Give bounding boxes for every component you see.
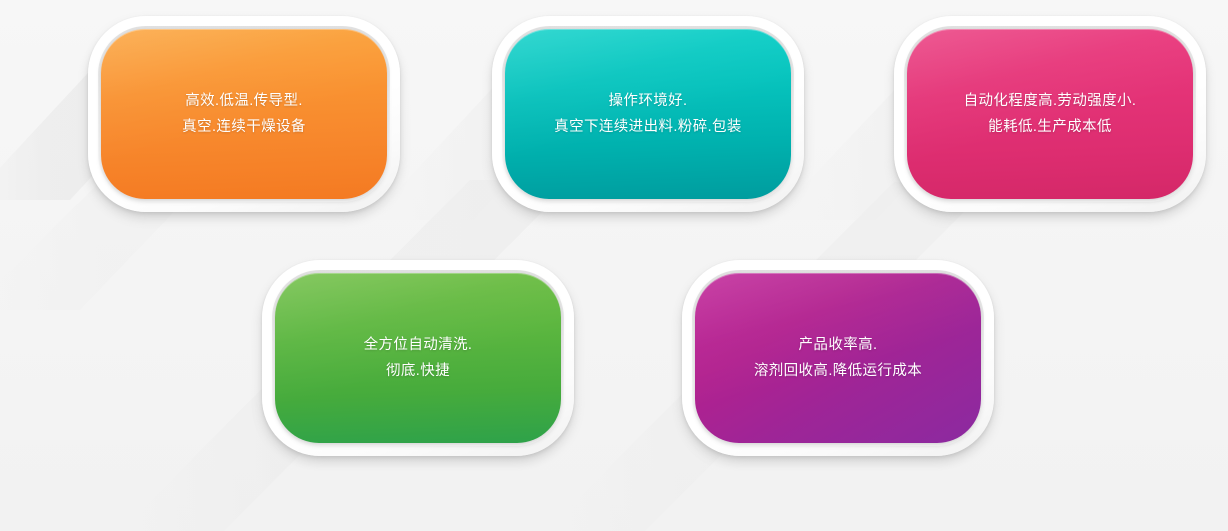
card-text-line-2: 真空.连续干燥设备 xyxy=(182,114,306,140)
card-automation[interactable]: 自动化程度高.劳动强度小. 能耗低.生产成本低 xyxy=(894,16,1206,212)
card-text-line-2: 真空下连续进出料.粉碎.包装 xyxy=(554,114,742,140)
card-text-line-2: 彻底.快捷 xyxy=(364,358,473,384)
card-text: 全方位自动清洗. 彻底.快捷 xyxy=(348,332,489,384)
card-text-line-2: 溶剂回收高.降低运行成本 xyxy=(754,358,922,384)
card-text: 操作环境好. 真空下连续进出料.粉碎.包装 xyxy=(538,88,758,140)
card-text: 产品收率高. 溶剂回收高.降低运行成本 xyxy=(738,332,938,384)
card-text: 高效.低温.传导型. 真空.连续干燥设备 xyxy=(166,88,322,140)
card-text-line-1: 高效.低温.传导型. xyxy=(182,88,306,114)
card-panel[interactable]: 产品收率高. 溶剂回收高.降低运行成本 xyxy=(695,273,981,443)
card-text-line-2: 能耗低.生产成本低 xyxy=(964,114,1137,140)
card-text-line-1: 操作环境好. xyxy=(554,88,742,114)
card-panel[interactable]: 高效.低温.传导型. 真空.连续干燥设备 xyxy=(101,29,387,199)
card-panel[interactable]: 操作环境好. 真空下连续进出料.粉碎.包装 xyxy=(505,29,791,199)
card-text-line-1: 全方位自动清洗. xyxy=(364,332,473,358)
card-panel[interactable]: 全方位自动清洗. 彻底.快捷 xyxy=(275,273,561,443)
card-yield[interactable]: 产品收率高. 溶剂回收高.降低运行成本 xyxy=(682,260,994,456)
card-environment[interactable]: 操作环境好. 真空下连续进出料.粉碎.包装 xyxy=(492,16,804,212)
feature-cards-canvas: 高效.低温.传导型. 真空.连续干燥设备 操作环境好. 真空下连续进出料.粉碎.… xyxy=(0,0,1228,531)
card-text-line-1: 自动化程度高.劳动强度小. xyxy=(964,88,1137,114)
card-efficiency[interactable]: 高效.低温.传导型. 真空.连续干燥设备 xyxy=(88,16,400,212)
card-text: 自动化程度高.劳动强度小. 能耗低.生产成本低 xyxy=(948,88,1153,140)
card-text-line-1: 产品收率高. xyxy=(754,332,922,358)
card-cleaning[interactable]: 全方位自动清洗. 彻底.快捷 xyxy=(262,260,574,456)
card-panel[interactable]: 自动化程度高.劳动强度小. 能耗低.生产成本低 xyxy=(907,29,1193,199)
